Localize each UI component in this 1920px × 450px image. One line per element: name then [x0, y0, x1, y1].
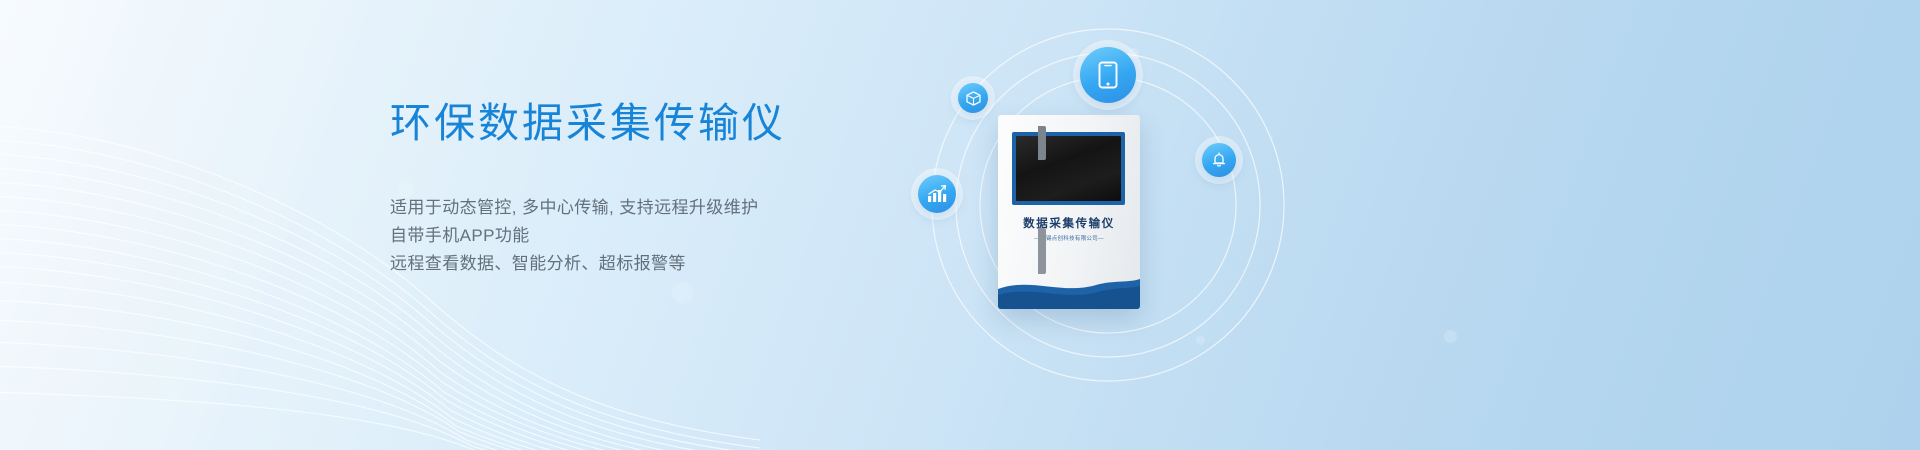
device-screen — [1016, 136, 1121, 201]
alarm-bell-icon[interactable] — [1202, 143, 1236, 177]
bar-chart-icon[interactable] — [918, 175, 956, 213]
device-brand-label: 数据采集传输仪 — [998, 215, 1140, 231]
bubble-decoration-5 — [1444, 330, 1457, 343]
device-company-label: —无锡点创科技有限公司— — [998, 234, 1140, 242]
mobile-phone-icon[interactable] — [1080, 47, 1136, 103]
device-screen-frame — [1012, 132, 1125, 205]
product-banner: 环保数据采集传输仪 适用于动态管控, 多中心传输, 支持远程升级维护 自带手机A… — [0, 0, 1920, 450]
device-side-connector-top — [1038, 126, 1046, 160]
bubble-decoration-2 — [672, 282, 694, 304]
device-footer-graphic — [998, 275, 1140, 309]
product-illustration: 数据采集传输仪 —无锡点创科技有限公司— — [900, 0, 1320, 450]
device-side-connector-bottom — [1038, 228, 1046, 274]
data-acquisition-device: 数据采集传输仪 —无锡点创科技有限公司— — [998, 115, 1140, 309]
package-box-icon[interactable] — [958, 83, 988, 113]
